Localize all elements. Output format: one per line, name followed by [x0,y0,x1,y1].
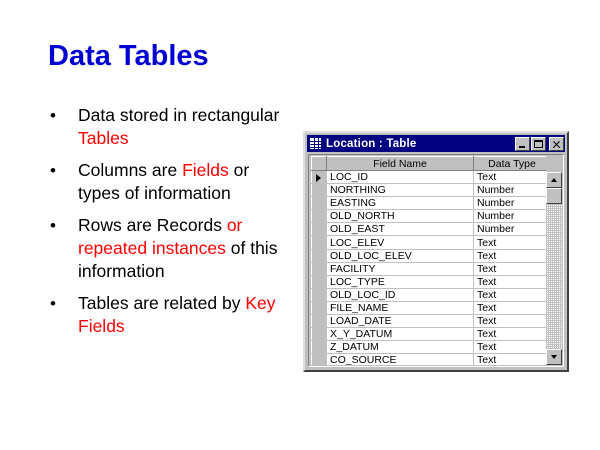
column-header-field-name[interactable]: Field Name [327,157,474,171]
row-selector[interactable] [312,223,327,236]
cell-data-type[interactable]: Text [474,328,551,341]
cell-data-type[interactable]: Text [474,249,551,262]
cell-field-name[interactable]: NORTHING [327,184,474,197]
cell-data-type[interactable]: Number [474,210,551,223]
bullet-text: Rows are Records [78,215,227,235]
row-selector[interactable] [312,275,327,288]
scroll-up-button[interactable] [546,172,562,188]
table-row[interactable]: LOC_TYPEText [312,275,551,288]
window-titlebar[interactable]: Location : Table [307,135,565,152]
close-button[interactable] [549,137,564,151]
bullet-item: •Rows are Records or repeated instances … [44,214,294,283]
table-header: Field Name Data Type [312,157,551,171]
bullet-marker-icon: • [50,214,56,237]
cell-data-type[interactable]: Text [474,301,551,314]
row-selector[interactable] [312,341,327,354]
table-row[interactable]: FILE_NAMEText [312,301,551,314]
table-row[interactable]: LOAD_DATEText [312,315,551,328]
table-row[interactable]: Z_DATUMText [312,341,551,354]
cell-data-type[interactable]: Number [474,184,551,197]
presentation-slide: Data Tables •Data stored in rectangular … [0,0,600,450]
chevron-up-icon [551,178,557,182]
cell-data-type[interactable]: Number [474,197,551,210]
cell-field-name[interactable]: OLD_LOC_ID [327,288,474,301]
table-row[interactable]: OLD_NORTHNumber [312,210,551,223]
table-grid-icon [309,137,322,150]
row-selector[interactable] [312,354,327,365]
window-title: Location : Table [326,138,514,150]
bullet-item: •Tables are related by Key Fields [44,292,294,338]
field-definition-table[interactable]: Field Name Data Type LOC_IDTextNORTHINGN… [311,156,551,365]
cell-field-name[interactable]: CO_SOURCE [327,354,474,365]
cell-data-type[interactable]: Text [474,262,551,275]
vertical-scrollbar[interactable] [546,156,562,365]
bullet-list: •Data stored in rectangular Tables•Colum… [44,104,294,347]
scrollbar-corner [546,156,562,172]
current-record-arrow-icon [316,174,321,182]
cell-field-name[interactable]: FILE_NAME [327,301,474,314]
cell-data-type[interactable]: Text [474,354,551,365]
cell-data-type[interactable]: Text [474,341,551,354]
table-row[interactable]: FACILITYText [312,262,551,275]
table-row[interactable]: OLD_LOC_IDText [312,288,551,301]
table-row[interactable]: OLD_LOC_ELEVText [312,249,551,262]
table-row[interactable]: NORTHINGNumber [312,184,551,197]
page-title: Data Tables [48,40,209,73]
bullet-highlight-text: Fields [182,160,229,180]
access-table-design-window[interactable]: Location : Table [303,131,569,372]
scrollbar-track[interactable] [546,188,562,349]
bullet-marker-icon: • [50,292,56,315]
row-selector[interactable] [312,315,327,328]
header-row: Field Name Data Type [312,157,551,171]
table-body: LOC_IDTextNORTHINGNumberEASTINGNumberOLD… [312,171,551,366]
row-selector[interactable] [312,328,327,341]
cell-data-type[interactable]: Text [474,236,551,249]
table-row[interactable]: LOC_IDText [312,171,551,184]
row-selector[interactable] [312,184,327,197]
bullet-item: •Data stored in rectangular Tables [44,104,294,150]
row-selector[interactable] [312,249,327,262]
row-selector[interactable] [312,197,327,210]
row-selector[interactable] [312,171,327,184]
scrollbar-thumb[interactable] [546,188,562,204]
cell-data-type[interactable]: Text [474,171,551,184]
cell-data-type[interactable]: Number [474,223,551,236]
row-selector[interactable] [312,262,327,275]
cell-field-name[interactable]: OLD_EAST [327,223,474,236]
field-grid-area: Field Name Data Type LOC_IDTextNORTHINGN… [308,154,564,367]
cell-field-name[interactable]: LOC_TYPE [327,275,474,288]
bullet-text: Columns are [78,160,182,180]
cell-data-type[interactable]: Text [474,288,551,301]
table-row[interactable]: X_Y_DATUMText [312,328,551,341]
bullet-text: Data stored in rectangular [78,105,279,125]
field-grid-viewport: Field Name Data Type LOC_IDTextNORTHINGN… [311,156,562,365]
row-selector[interactable] [312,288,327,301]
cell-field-name[interactable]: LOC_ID [327,171,474,184]
minimize-button[interactable] [515,137,530,151]
maximize-button[interactable] [531,137,546,151]
column-header-data-type[interactable]: Data Type [474,157,551,171]
bullet-item: •Columns are Fields or types of informat… [44,159,294,205]
select-all-header[interactable] [312,157,327,171]
bullet-text: Tables are related by [78,293,245,313]
cell-field-name[interactable]: OLD_LOC_ELEV [327,249,474,262]
cell-field-name[interactable]: LOAD_DATE [327,315,474,328]
bullet-highlight-text: Tables [78,128,129,148]
cell-field-name[interactable]: Z_DATUM [327,341,474,354]
scroll-down-button[interactable] [546,349,562,365]
cell-field-name[interactable]: OLD_NORTH [327,210,474,223]
row-selector[interactable] [312,301,327,314]
chevron-down-icon [551,355,557,359]
cell-data-type[interactable]: Text [474,315,551,328]
cell-field-name[interactable]: X_Y_DATUM [327,328,474,341]
row-selector[interactable] [312,210,327,223]
bullet-marker-icon: • [50,104,56,127]
table-row[interactable]: OLD_EASTNumber [312,223,551,236]
table-row[interactable]: CO_SOURCEText [312,354,551,365]
table-row[interactable]: EASTINGNumber [312,197,551,210]
bullet-marker-icon: • [50,159,56,182]
cell-data-type[interactable]: Text [474,275,551,288]
table-row[interactable]: LOC_ELEVText [312,236,551,249]
row-selector[interactable] [312,236,327,249]
cell-field-name[interactable]: EASTING [327,197,474,210]
cell-field-name[interactable]: LOC_ELEV [327,236,474,249]
cell-field-name[interactable]: FACILITY [327,262,474,275]
